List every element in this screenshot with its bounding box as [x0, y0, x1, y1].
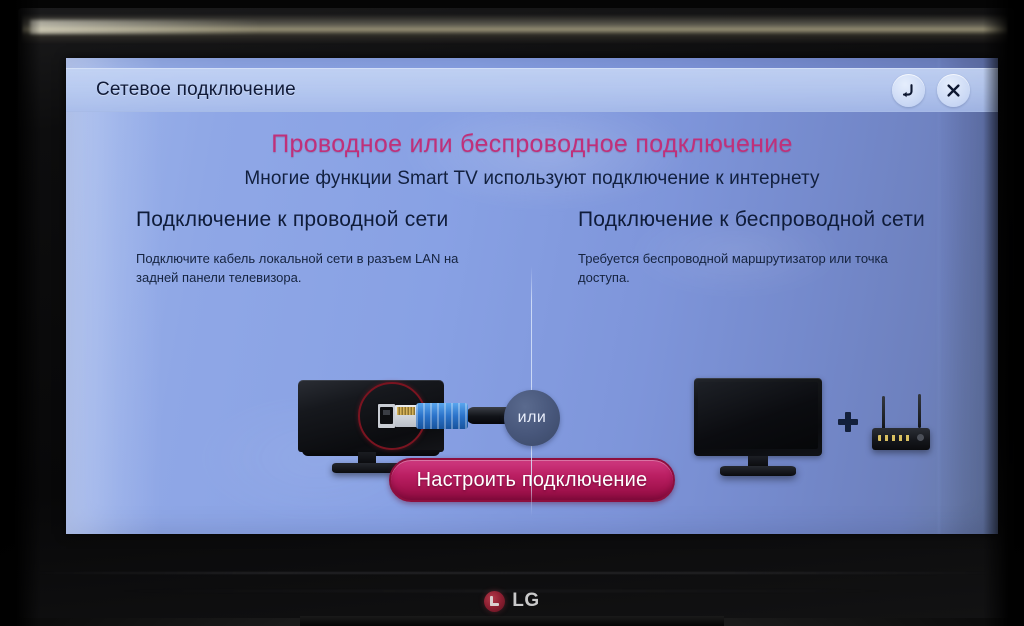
rj45-connector-icon: [395, 405, 417, 427]
close-x-icon: [944, 81, 963, 100]
wired-heading: Подключение к проводной сети: [136, 208, 492, 232]
main-heading: Проводное или беспроводное подключение: [66, 130, 998, 159]
close-button[interactable]: [937, 74, 970, 107]
lg-wordmark: LG: [512, 590, 539, 612]
lan-port-icon: [378, 404, 395, 428]
main-subheading: Многие функции Smart TV используют подкл…: [66, 168, 998, 190]
tv-photograph: LG Сетевое подключение: [0, 0, 1024, 626]
plus-icon: [838, 412, 858, 432]
tv-stand: [300, 616, 724, 626]
header-actions: [892, 74, 970, 107]
router-power-port: [917, 434, 924, 441]
router-led-indicators: [878, 435, 912, 441]
screen-header-bar: Сетевое подключение: [66, 68, 998, 112]
wireless-description: Требуется беспроводной маршрутизатор или…: [578, 250, 908, 288]
wired-description: Подключите кабель локальной сети в разъе…: [136, 250, 466, 288]
cta-area: Настроить подключение: [66, 458, 998, 502]
tv-front-display: [698, 382, 818, 449]
tv-screen: Сетевое подключение: [66, 58, 998, 534]
or-badge: или: [504, 390, 560, 446]
lg-mark-icon: [484, 591, 505, 612]
back-arrow-icon: [899, 81, 918, 100]
wireless-heading: Подключение к беспроводной сети: [578, 208, 954, 232]
wireless-router-icon: [872, 428, 930, 450]
tv-front-icon: [694, 378, 822, 456]
router-antenna-right-icon: [918, 394, 921, 428]
page-title: Сетевое подключение: [96, 79, 296, 101]
back-button[interactable]: [892, 74, 925, 107]
network-connection-screen: Сетевое подключение: [66, 58, 998, 534]
lg-brand-logo: LG: [0, 590, 1024, 612]
ethernet-cable-blue-boot: [416, 403, 468, 429]
router-antenna-left-icon: [882, 396, 885, 430]
